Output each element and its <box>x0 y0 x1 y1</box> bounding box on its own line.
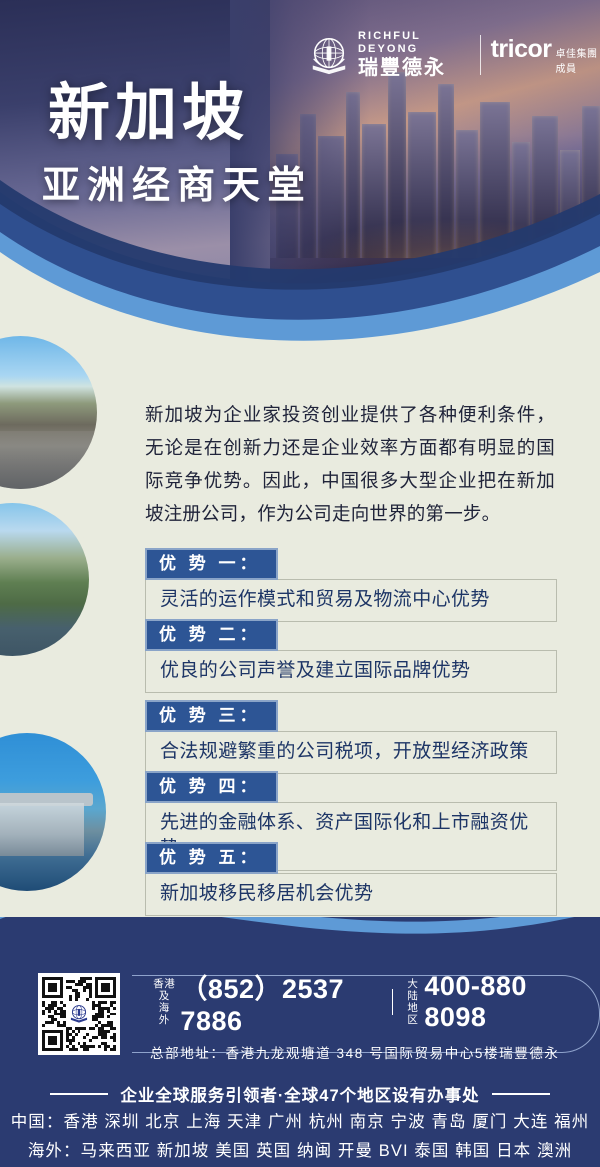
intro-paragraph: 新加坡为企业家投资创业提供了各种便利条件，无论是在创新力还是企业效率方面都有明显… <box>145 398 555 530</box>
qr-center-logo-icon <box>66 1001 92 1027</box>
advantage-1-text: 灵活的运作模式和贸易及物流中心优势 <box>145 579 557 622</box>
poster-root: 新加坡 亚洲经商天堂 RICHFUL DEYONG 瑞豐德永 <box>0 0 600 1167</box>
advantage-block-3: 优 势 三： 合法规避繁重的公司税项，开放型经济政策 <box>145 700 557 774</box>
richful-crest-icon <box>308 34 350 76</box>
advantage-5-heading: 优 势 五： <box>145 842 278 874</box>
advantage-5-text: 新加坡移民移居机会优势 <box>145 873 557 916</box>
advantage-4-heading: 优 势 四： <box>145 771 278 803</box>
head-office-address: 总部地址：香港九龙观塘道 348 号国际贸易中心5楼瑞豐德永 <box>150 1042 573 1062</box>
phone-separator <box>392 989 394 1015</box>
hk-phone-number[interactable]: （852）2537 7886 <box>180 967 381 1037</box>
tagline-rule-right <box>492 1093 550 1095</box>
tagline-text: 企业全球服务引领者·全球47个地区设有办事处 <box>120 1082 479 1106</box>
advantage-2-heading: 优 势 二： <box>145 619 278 651</box>
cityscape-garden-photo <box>0 497 95 662</box>
tagline-row: 企业全球服务引领者·全球47个地区设有办事处 <box>0 1082 600 1106</box>
tricor-lockup: tricor 卓佳集團成員 <box>491 35 600 75</box>
regions-overseas: 海外：马来西亚 新加坡 美国 英国 纳闽 开曼 BVI 泰国 韩国 日本 澳洲 <box>0 1137 600 1166</box>
hk-phone-label: 香港及 海 外 <box>150 978 178 1026</box>
tricor-cn-label: 卓佳集團成員 <box>555 45 600 75</box>
brand-divider <box>480 35 481 75</box>
contact-row: 香港及 海 外 （852）2537 7886 大陆 地区 400-880 809… <box>38 973 600 1055</box>
advantage-2-text: 优良的公司声誉及建立国际品牌优势 <box>145 650 557 693</box>
regions-china: 中国：香港 深圳 北京 上海 天津 广州 杭州 南京 宁波 青岛 厦门 大连 福… <box>0 1108 600 1137</box>
page-title: 新加坡 <box>48 83 249 145</box>
advantage-3-text: 合法规避繁重的公司税项，开放型经济政策 <box>145 731 557 774</box>
brand-en-name: RICHFUL DEYONG <box>358 30 468 56</box>
tagline-rule-left <box>50 1093 108 1095</box>
cn-phone-number[interactable]: 400-880 8098 <box>424 971 573 1033</box>
advantage-block-1: 优 势 一： 灵活的运作模式和贸易及物流中心优势 <box>145 548 557 622</box>
marina-bay-sands-photo <box>0 727 112 897</box>
brand-lockup: RICHFUL DEYONG 瑞豐德永 tricor 卓佳集團成員 <box>308 30 600 80</box>
regions-list: 中国：香港 深圳 北京 上海 天津 广州 杭州 南京 宁波 青岛 厦门 大连 福… <box>0 1108 600 1166</box>
advantage-1-heading: 优 势 一： <box>145 548 278 580</box>
advantage-block-5: 优 势 五： 新加坡移民移居机会优势 <box>145 842 557 916</box>
contact-details-box: 香港及 海 外 （852）2537 7886 大陆 地区 400-880 809… <box>132 975 600 1053</box>
qr-code-icon[interactable] <box>38 973 120 1055</box>
shophouse-street-photo <box>0 330 103 495</box>
advantage-3-heading: 优 势 三： <box>145 700 278 732</box>
phone-line: 香港及 海 外 （852）2537 7886 大陆 地区 400-880 809… <box>150 967 573 1037</box>
advantage-block-2: 优 势 二： 优良的公司声誉及建立国际品牌优势 <box>145 619 557 693</box>
cn-phone-label: 大陆 地区 <box>403 978 422 1026</box>
brand-names: RICHFUL DEYONG 瑞豐德永 <box>358 30 468 80</box>
brand-cn-name: 瑞豐德永 <box>358 57 468 80</box>
tricor-name: tricor <box>491 35 552 64</box>
